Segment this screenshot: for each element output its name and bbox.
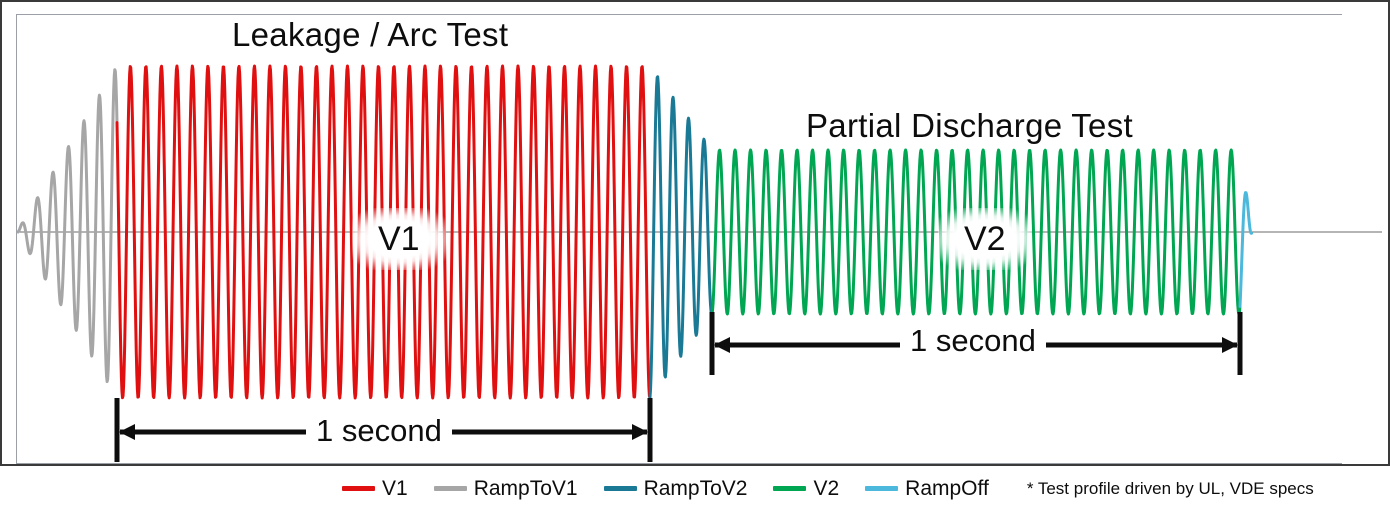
legend-swatch-icon [342, 486, 375, 491]
waveform-figure: Leakage / Arc Test Partial Discharge Tes… [0, 0, 1390, 511]
waveform-label-v2: V2 [938, 208, 1032, 270]
legend-label: RampToV2 [644, 477, 748, 501]
measure-arrowhead-right [632, 424, 648, 440]
legend-label: RampToV1 [474, 477, 578, 501]
waveform-segment-rampoff [1240, 193, 1252, 307]
legend: V1RampToV1RampToV2V2RampOff* Test profil… [0, 466, 1390, 511]
legend-label: V2 [813, 477, 839, 501]
legend-swatch-icon [604, 486, 637, 491]
waveform-plot [0, 0, 1390, 466]
legend-swatch-icon [865, 486, 898, 491]
duration-label-v2: 1 second [900, 325, 1046, 356]
legend-item-ramptov1[interactable]: RampToV1 [434, 477, 578, 501]
legend-item-ramptov2[interactable]: RampToV2 [604, 477, 748, 501]
measure-arrowhead-right [1222, 337, 1238, 353]
legend-item-v2[interactable]: V2 [773, 477, 839, 501]
title-leakage-arc-test: Leakage / Arc Test [232, 16, 508, 54]
legend-swatch-icon [773, 486, 806, 491]
duration-label-v1: 1 second [306, 415, 452, 446]
footnote-text: * Test profile driven by UL, VDE specs [1027, 479, 1314, 499]
legend-item-rampoff[interactable]: RampOff [865, 477, 989, 501]
legend-item-v1[interactable]: V1 [342, 477, 408, 501]
waveform-label-v1: V1 [352, 208, 446, 270]
measure-arrowhead-left [119, 424, 135, 440]
legend-label: RampOff [905, 477, 989, 501]
legend-label: V1 [382, 477, 408, 501]
waveform-segment-ramptov1 [18, 70, 117, 382]
legend-swatch-icon [434, 486, 467, 491]
measure-arrowhead-left [714, 337, 730, 353]
waveform-segment-ramptov2 [650, 77, 712, 398]
title-partial-discharge-test: Partial Discharge Test [806, 107, 1133, 145]
